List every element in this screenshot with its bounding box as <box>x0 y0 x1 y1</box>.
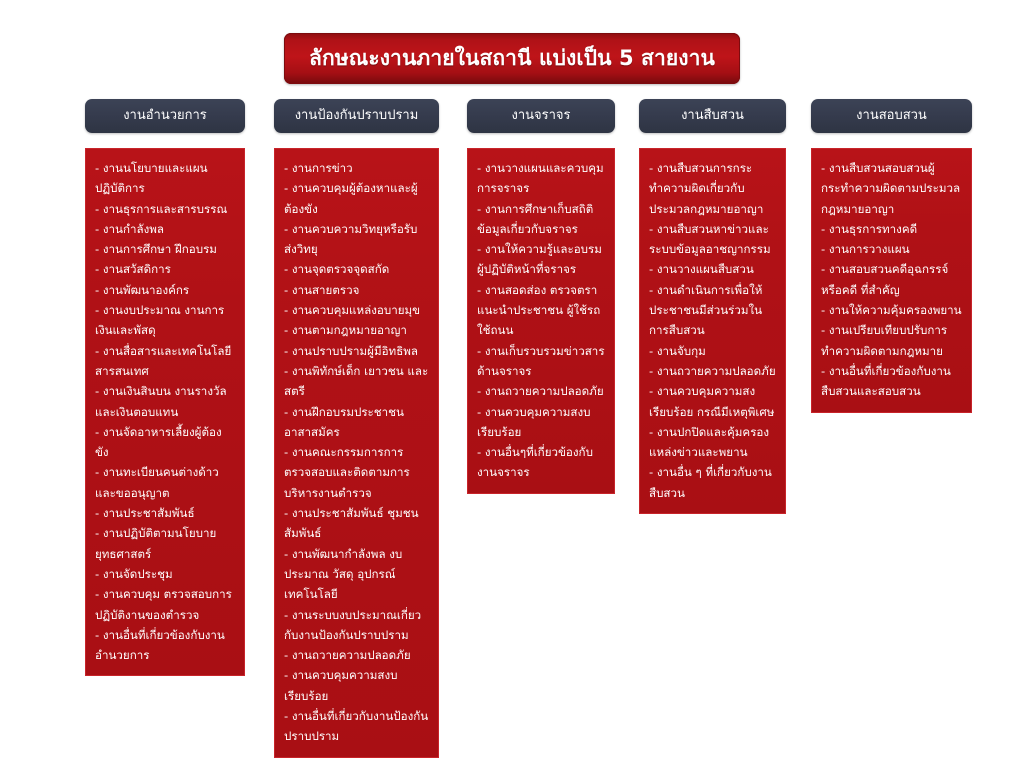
column-header-traffic[interactable]: งานจราจร <box>467 99 615 133</box>
list-item: - งานสืบสวนสอบสวนผู้กระทำความผิดตามประมว… <box>821 158 962 219</box>
list-item: - งานธุรการและสารบรรณ <box>95 199 235 219</box>
list-item: - งานสืบสวนหาข่าวและระบบข้อมูลอาชญากรรม <box>649 219 776 260</box>
list-item: - งานควบคุมความสงบเรียบร้อย <box>477 402 605 443</box>
column-header-label: งานสืบสวน <box>681 109 744 123</box>
list-item: - งานทะเบียนคนต่างด้าวและขออนุญาต <box>95 462 235 503</box>
list-item: - งานฝึกอบรมประชาชนอาสาสมัคร <box>284 402 429 443</box>
column-header-label: งานอำนวยการ <box>123 109 207 123</box>
column-body-administration: - งานนโยบายและแผนปฏิบัติการ - งานธุรการแ… <box>85 148 245 676</box>
list-item: - งานงบประมาณ งานการเงินและพัสดุ <box>95 300 235 341</box>
list-item: - งานอื่นที่เกี่ยวข้องกับงานอำนวยการ <box>95 625 235 666</box>
list-item: - งานปราบปรามผู้มีอิทธิพล <box>284 341 429 361</box>
list-item: - งานถวายความปลอดภัย <box>649 361 776 381</box>
list-item: - งานพัฒนาองค์กร <box>95 280 235 300</box>
list-item: - งานพัฒนากำลังพล งบประมาณ วัสดุ อุปกรณ์… <box>284 544 429 605</box>
list-item: - งานถวายความปลอดภัย <box>284 645 429 665</box>
list-item: - งานการข่าว <box>284 158 429 178</box>
list-item: - งานสวัสดิการ <box>95 259 235 279</box>
list-item: - งานควบคุมความสงเรียบร้อย กรณีมีเหตุพิเ… <box>649 381 776 422</box>
list-item: - งานสื่อสารและเทคโนโลยีสารสนเทศ <box>95 341 235 382</box>
list-item: - งานดำเนินการเพื่อให้ประชาชนมีส่วนร่วมใ… <box>649 280 776 341</box>
list-item: - งานการศึกษาเก็บสถิติข้อมูลเกี่ยวกับจรา… <box>477 199 605 240</box>
column-header-crime-prevention[interactable]: งานป้องกันปราบปราม <box>274 99 439 133</box>
list-item: - งานธุรการทางคดี <box>821 219 962 239</box>
column-header-investigation[interactable]: งานสืบสวน <box>639 99 786 133</box>
work-branch-column-traffic: งานจราจร - งานวางแผนและควบคุมการจราจร - … <box>467 99 615 494</box>
work-branch-column-administration: งานอำนวยการ - งานนโยบายและแผนปฏิบัติการ … <box>85 99 245 676</box>
column-header-label: งานป้องกันปราบปราม <box>295 109 419 123</box>
column-body-crime-prevention: - งานการข่าว - งานควบคุมผู้ต้องหาและผู้ต… <box>274 148 439 758</box>
list-item: - งานเก็บรวบรวมข่าวสารด้านจราจร <box>477 341 605 382</box>
work-branch-column-investigation: งานสืบสวน - งานสืบสวนการกระทำความผิดเกี่… <box>639 99 786 514</box>
list-item: - งานการวางแผน <box>821 239 962 259</box>
list-item: - งานเงินสินบน งานรางวัลและเงินตอบแทน <box>95 381 235 422</box>
list-item: - งานจัดประชุม <box>95 564 235 584</box>
column-header-inquiry[interactable]: งานสอบสวน <box>811 99 972 133</box>
list-item: - งานอื่นที่เกี่ยวข้องกับงานสืบสวนและสอบ… <box>821 361 962 402</box>
list-item: - งานการศึกษา ฝึกอบรม <box>95 239 235 259</box>
page-title-banner: ลักษณะงานภายในสถานี แบ่งเป็น 5 สายงาน <box>284 33 740 84</box>
list-item: - งานเปรียบเทียบปรับการทำความผิดตามกฎหมา… <box>821 320 962 361</box>
list-item: - งานประชาสัมพันธ์ <box>95 503 235 523</box>
list-item: - งานควบคุมแหล่งอบายมุข <box>284 300 429 320</box>
list-item: - งานให้ความคุ้มครองพยาน <box>821 300 962 320</box>
list-item: - งานระบบงบประมาณเกี่ยวกับงานป้องกันปราบ… <box>284 605 429 646</box>
list-item: - งานอื่นๆที่เกี่ยวข้องกับงานจราจร <box>477 442 605 483</box>
list-item: - งานนโยบายและแผนปฏิบัติการ <box>95 158 235 199</box>
work-branch-column-inquiry: งานสอบสวน - งานสืบสวนสอบสวนผู้กระทำความผ… <box>811 99 972 413</box>
list-item: - งานให้ความรู้และอบรมผู้ปฏิบัติหน้าที่จ… <box>477 239 605 280</box>
page-title: ลักษณะงานภายในสถานี แบ่งเป็น 5 สายงาน <box>309 47 715 70</box>
list-item: - งานควบคุมความสงบเรียบร้อย <box>284 665 429 706</box>
list-item: - งานควบความวิทยุหรือรับส่งวิทยุ <box>284 219 429 260</box>
list-item: - งานจับกุม <box>649 341 776 361</box>
list-item: - งานวางแผนสืบสวน <box>649 259 776 279</box>
list-item: - งานวางแผนและควบคุมการจราจร <box>477 158 605 199</box>
column-header-administration[interactable]: งานอำนวยการ <box>85 99 245 133</box>
list-item: - งานสายตรวจ <box>284 280 429 300</box>
list-item: - งานสอบสวนคดีอุฉกรรจ์หรือคดี ที่สำคัญ <box>821 259 962 300</box>
list-item: - งานประชาสัมพันธ์ ชุมชนสัมพันธ์ <box>284 503 429 544</box>
work-branch-column-crime-prevention: งานป้องกันปราบปราม - งานการข่าว - งานควบ… <box>274 99 439 758</box>
list-item: - งานปกปิดและคุ้มครองแหล่งข่าวและพยาน <box>649 422 776 463</box>
column-body-inquiry: - งานสืบสวนสอบสวนผู้กระทำความผิดตามประมว… <box>811 148 972 413</box>
column-header-label: งานสอบสวน <box>856 109 927 123</box>
list-item: - งานควบคุม ตรวจสอบการปฏิบัติงานของตำรวจ <box>95 584 235 625</box>
list-item: - งานจุดตรวจจุดสกัด <box>284 259 429 279</box>
list-item: - งานควบคุมผู้ต้องหาและผู้ต้องขัง <box>284 178 429 219</box>
list-item: - งานอื่น ๆ ที่เกี่ยวกับงานสืบสวน <box>649 462 776 503</box>
list-item: - งานคณะกรรมการการตรวจสอบและติดตามการบริ… <box>284 442 429 503</box>
list-item: - งานปฏิบัติตามนโยบายยุทธศาสตร์ <box>95 523 235 564</box>
list-item: - งานถวายความปลอดภัย <box>477 381 605 401</box>
list-item: - งานอื่นที่เกี่ยวกับงานป้องกันปราบปราม <box>284 706 429 747</box>
list-item: - งานตามกฎหมายอาญา <box>284 320 429 340</box>
list-item: - งานจัดอาหารเลี้ยงผู้ต้องขัง <box>95 422 235 463</box>
list-item: - งานสืบสวนการกระทำความผิดเกี่ยวกับประมว… <box>649 158 776 219</box>
column-body-traffic: - งานวางแผนและควบคุมการจราจร - งานการศึก… <box>467 148 615 494</box>
column-header-label: งานจราจร <box>511 109 570 123</box>
list-item: - งานกำลังพล <box>95 219 235 239</box>
list-item: - งานพิทักษ์เด็ก เยาวชน และสตรี <box>284 361 429 402</box>
list-item: - งานสอดส่อง ตรวจตรา แนะนำประชาชน ผู้ใช้… <box>477 280 605 341</box>
column-body-investigation: - งานสืบสวนการกระทำความผิดเกี่ยวกับประมว… <box>639 148 786 514</box>
